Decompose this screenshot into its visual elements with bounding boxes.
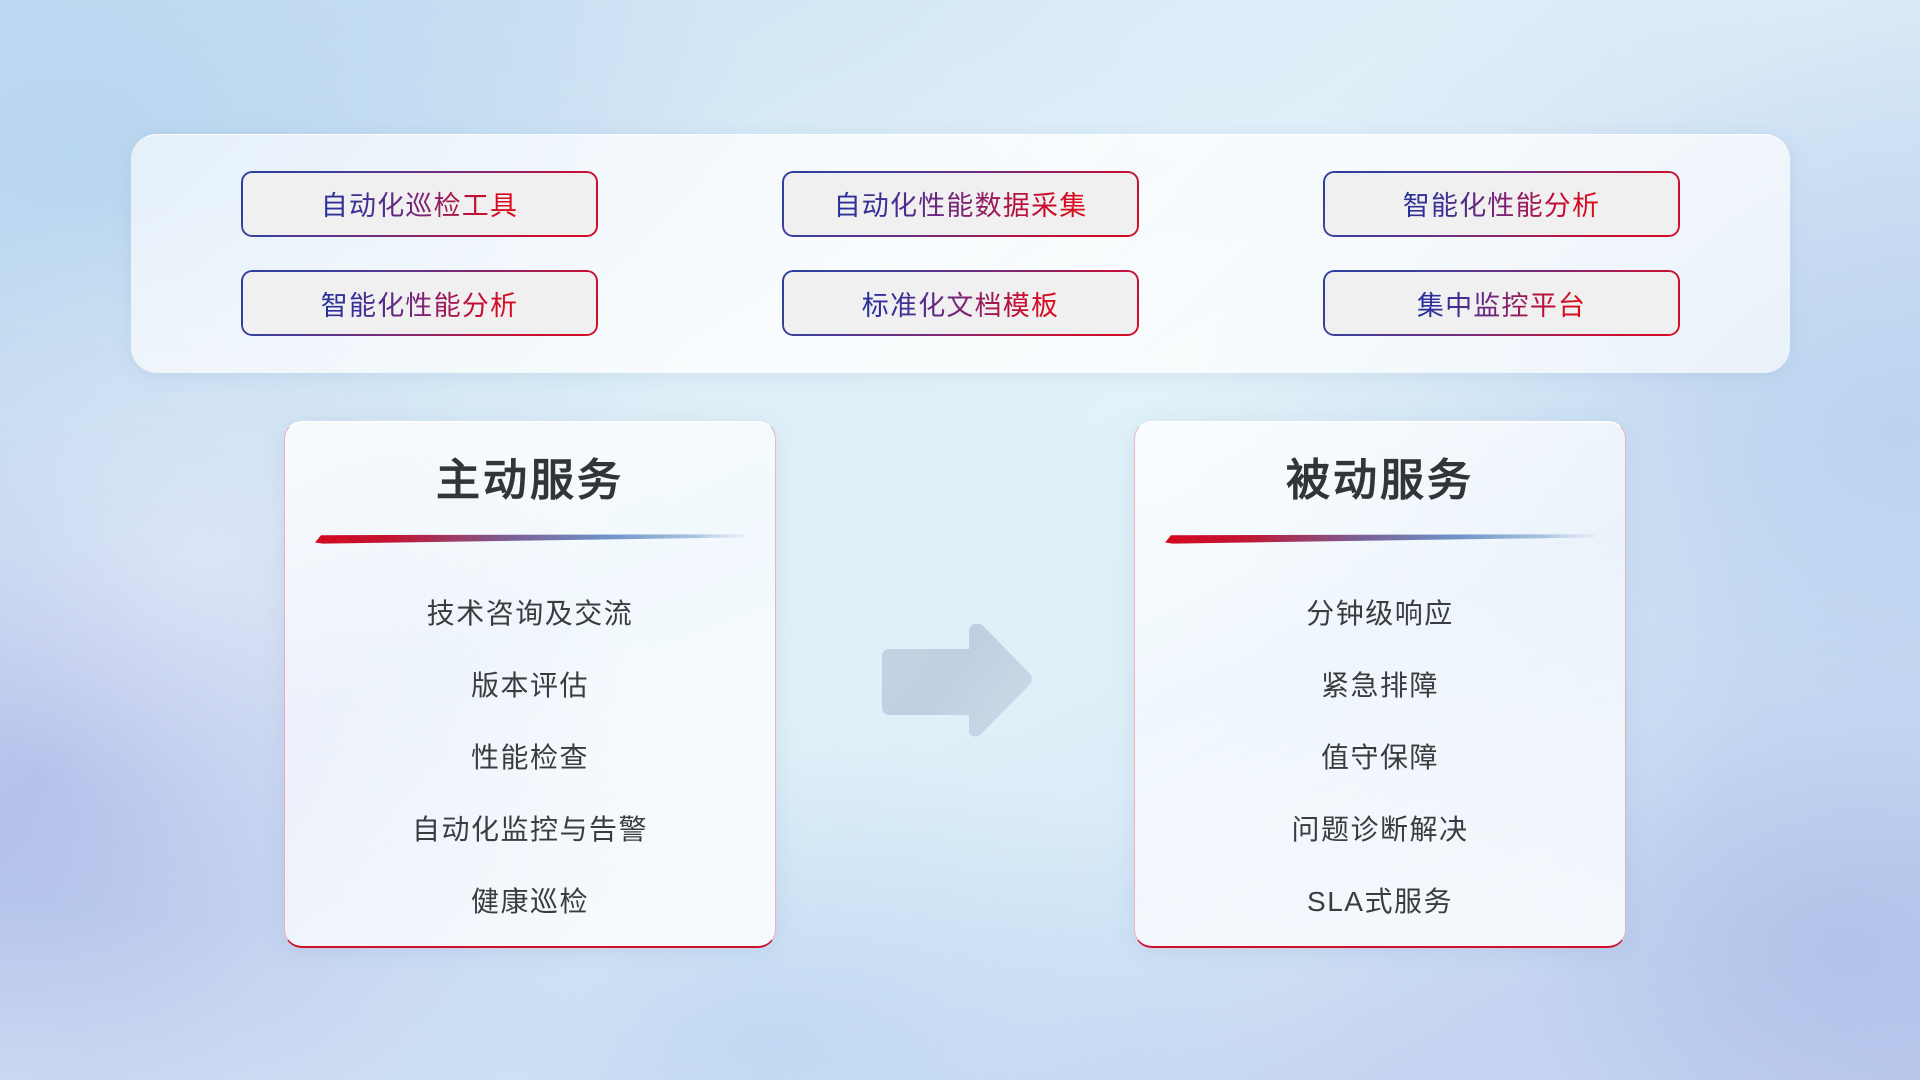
capability-pill-label: 智能化性能分析 [1403,184,1600,223]
capability-panel: 自动化巡检工具 自动化性能数据采集 智能化性能分析 智能化性能分析 标准化文档模… [131,134,1790,373]
list-item: 健康巡检 [471,866,589,938]
proactive-divider [315,532,745,544]
capability-pill-3[interactable]: 智能化性能分析 [1323,171,1680,237]
capability-pill-label: 自动化性能数据采集 [834,184,1088,223]
proactive-service-title: 主动服务 [436,457,624,505]
proactive-service-list: 技术咨询及交流 版本评估 性能检查 自动化监控与告警 健康巡检 [285,578,775,938]
proactive-service-card: 主动服务 技术咨询及交流 版本评估 性能检查 自动化监控与告警 健康巡检 [284,421,776,948]
list-item: 技术咨询及交流 [427,578,634,650]
list-item: 性能检查 [471,722,589,794]
reactive-service-list: 分钟级响应 紧急排障 值守保障 问题诊断解决 SLA式服务 [1135,578,1625,938]
capability-pill-label: 自动化巡检工具 [321,184,518,223]
list-item: 值守保障 [1321,722,1439,794]
list-item: 自动化监控与告警 [412,794,648,866]
list-item: 问题诊断解决 [1291,794,1468,866]
reactive-divider [1165,532,1595,544]
capability-pill-5[interactable]: 标准化文档模板 [782,270,1139,336]
list-item: 分钟级响应 [1306,578,1454,650]
list-item: 紧急排障 [1321,650,1439,722]
capability-pill-label: 标准化文档模板 [862,284,1059,323]
list-item: SLA式服务 [1307,866,1453,938]
reactive-service-title: 被动服务 [1286,457,1474,505]
list-item: 版本评估 [471,650,589,722]
capability-pill-6[interactable]: 集中监控平台 [1323,270,1680,336]
capability-pill-1[interactable]: 自动化巡检工具 [241,171,598,237]
capability-pill-label: 集中监控平台 [1417,284,1586,323]
capability-pill-grid: 自动化巡检工具 自动化性能数据采集 智能化性能分析 智能化性能分析 标准化文档模… [131,134,1790,373]
capability-pill-2[interactable]: 自动化性能数据采集 [782,171,1139,237]
capability-pill-4[interactable]: 智能化性能分析 [241,270,598,336]
reactive-service-card: 被动服务 分钟级响应 紧急排障 值守保障 问题诊断解决 SLA式服务 [1134,421,1626,948]
capability-pill-label: 智能化性能分析 [321,284,518,323]
flow-arrow-right-icon [873,624,1035,740]
